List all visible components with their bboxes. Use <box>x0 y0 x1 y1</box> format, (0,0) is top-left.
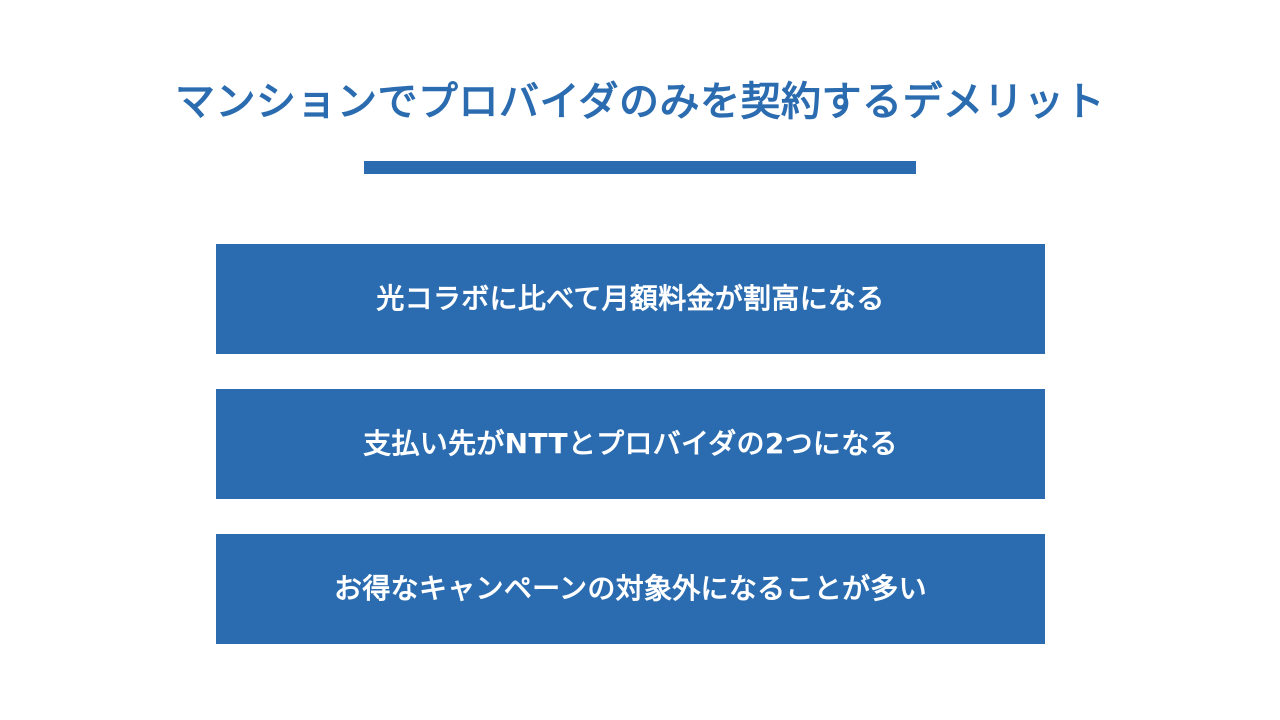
demerit-box-1: 光コラボに比べて月額料金が割高になる <box>216 244 1045 354</box>
demerit-box-2: 支払い先がNTTとプロバイダの2つになる <box>216 389 1045 499</box>
title-block: マンションでプロバイダのみを契約するデメリット <box>0 78 1280 126</box>
demerit-box-list: 光コラボに比べて月額料金が割高になる 支払い先がNTTとプロバイダの2つになる … <box>216 244 1045 644</box>
demerit-box-3-label: お得なキャンペーンの対象外になることが多い <box>334 572 927 606</box>
page-title: マンションでプロバイダのみを契約するデメリット <box>0 78 1280 126</box>
demerit-box-3: お得なキャンペーンの対象外になることが多い <box>216 534 1045 644</box>
demerit-box-1-label: 光コラボに比べて月額料金が割高になる <box>376 282 884 316</box>
demerit-box-2-label: 支払い先がNTTとプロバイダの2つになる <box>363 427 898 461</box>
slide-canvas: マンションでプロバイダのみを契約するデメリット 光コラボに比べて月額料金が割高に… <box>0 0 1280 720</box>
title-underline-accent-bar <box>364 161 916 174</box>
